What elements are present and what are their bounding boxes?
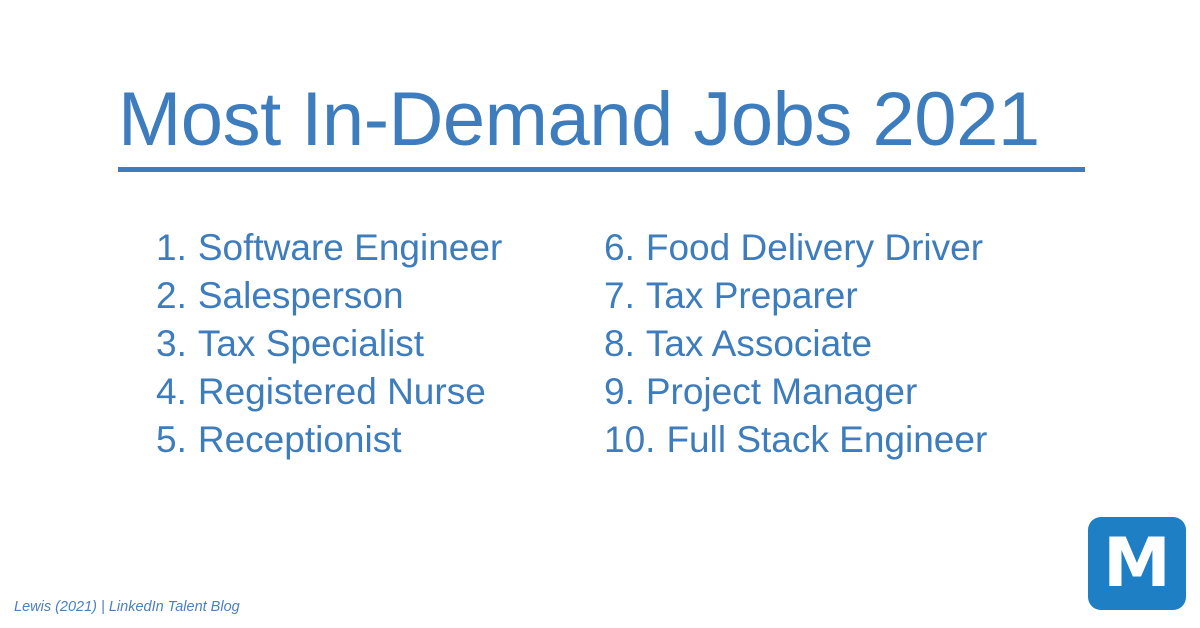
list-item-rank: 10. <box>604 416 655 464</box>
list-item-label: Full Stack Engineer <box>666 416 987 464</box>
jobs-column-left: 1. Software Engineer 2. Salesperson 3. T… <box>156 224 604 464</box>
list-item: 10. Full Stack Engineer <box>604 416 1104 464</box>
slide-canvas: Most In-Demand Jobs 2021 1. Software Eng… <box>0 0 1200 628</box>
list-item-label: Tax Preparer <box>646 272 858 320</box>
list-item-rank: 8. <box>604 320 635 368</box>
list-item-label: Registered Nurse <box>198 368 486 416</box>
list-item: 1. Software Engineer <box>156 224 604 272</box>
list-item-rank: 4. <box>156 368 187 416</box>
jobs-column-right: 6. Food Delivery Driver 7. Tax Preparer … <box>604 224 1104 464</box>
list-item-rank: 7. <box>604 272 635 320</box>
list-item: 9. Project Manager <box>604 368 1104 416</box>
list-item-label: Food Delivery Driver <box>646 224 983 272</box>
list-item: 2. Salesperson <box>156 272 604 320</box>
title-block: Most In-Demand Jobs 2021 <box>118 78 1085 172</box>
list-item-label: Project Manager <box>646 368 917 416</box>
list-item: 3. Tax Specialist <box>156 320 604 368</box>
list-item-rank: 3. <box>156 320 187 368</box>
source-attribution: Lewis (2021) | LinkedIn Talent Blog <box>14 598 240 616</box>
m-logo: M <box>1088 517 1186 610</box>
list-item-label: Tax Associate <box>646 320 872 368</box>
list-item: 6. Food Delivery Driver <box>604 224 1104 272</box>
list-item: 8. Tax Associate <box>604 320 1104 368</box>
list-item: 5. Receptionist <box>156 416 604 464</box>
list-item-label: Tax Specialist <box>198 320 424 368</box>
list-item-label: Receptionist <box>198 416 402 464</box>
list-item-rank: 1. <box>156 224 187 272</box>
list-item-label: Software Engineer <box>198 224 502 272</box>
list-item: 7. Tax Preparer <box>604 272 1104 320</box>
list-item-rank: 6. <box>604 224 635 272</box>
page-title: Most In-Demand Jobs 2021 <box>118 78 1085 162</box>
list-item-rank: 9. <box>604 368 635 416</box>
list-item-label: Salesperson <box>198 272 404 320</box>
list-item-rank: 5. <box>156 416 187 464</box>
jobs-list: 1. Software Engineer 2. Salesperson 3. T… <box>156 224 1156 464</box>
title-underline-rule <box>118 167 1085 172</box>
list-item: 4. Registered Nurse <box>156 368 604 416</box>
logo-letter: M <box>1103 530 1171 598</box>
list-item-rank: 2. <box>156 272 187 320</box>
